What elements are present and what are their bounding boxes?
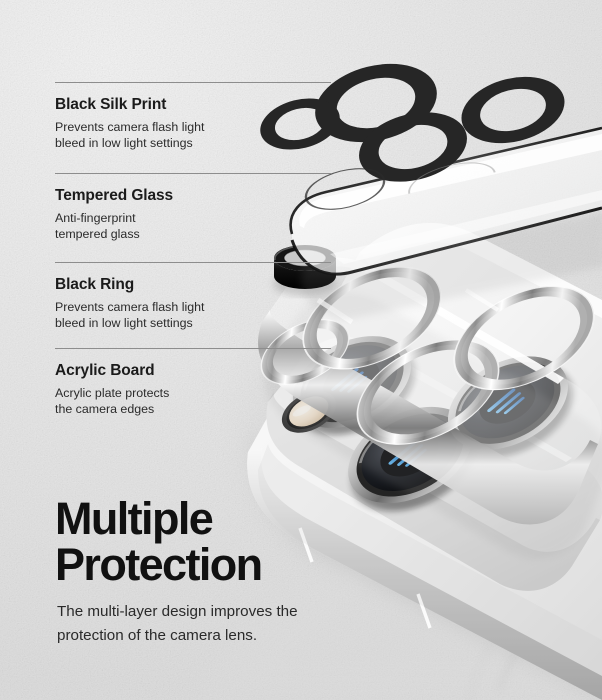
spec-desc-line-1: Anti-fingerprint bbox=[55, 211, 136, 225]
spec-divider bbox=[55, 348, 331, 349]
spec-description: Prevents camera flash light bleed in low… bbox=[55, 120, 355, 151]
spec-desc-line-2: bleed in low light settings bbox=[55, 136, 193, 150]
subheadline-line-2: protection of the camera lens. bbox=[57, 627, 257, 644]
spec-description: Prevents camera flash light bleed in low… bbox=[55, 300, 355, 331]
spec-acrylic-board: Acrylic Board Acrylic plate protects the… bbox=[55, 348, 355, 417]
spec-desc-line-2: bleed in low light settings bbox=[55, 316, 193, 330]
spec-desc-line-1: Acrylic plate protects bbox=[55, 386, 169, 400]
spec-divider bbox=[55, 173, 331, 174]
spec-divider bbox=[55, 82, 331, 83]
infographic-canvas: Black Silk Print Prevents camera flash l… bbox=[0, 0, 602, 700]
spec-title: Tempered Glass bbox=[55, 187, 355, 205]
spec-title: Acrylic Board bbox=[55, 362, 355, 380]
spec-title: Black Ring bbox=[55, 276, 355, 294]
spec-desc-line-1: Prevents camera flash light bbox=[55, 300, 204, 314]
spec-desc-line-2: the camera edges bbox=[55, 402, 154, 416]
spec-black-silk-print: Black Silk Print Prevents camera flash l… bbox=[55, 82, 355, 151]
subheadline-line-1: The multi-layer design improves the bbox=[57, 603, 298, 620]
spec-divider bbox=[55, 262, 331, 263]
subheadline: The multi-layer design improves the prot… bbox=[57, 600, 397, 648]
spec-title: Black Silk Print bbox=[55, 96, 355, 114]
spec-desc-line-2: tempered glass bbox=[55, 227, 140, 241]
camera-lens-3 bbox=[432, 337, 587, 476]
camera-lens-2 bbox=[332, 387, 492, 530]
spec-black-ring: Black Ring Prevents camera flash light b… bbox=[55, 262, 355, 331]
headline-line-1: Multiple bbox=[55, 496, 262, 542]
headline-line-2: Protection bbox=[55, 542, 262, 588]
spec-description: Anti-fingerprint tempered glass bbox=[55, 211, 355, 242]
spec-tempered-glass: Tempered Glass Anti-fingerprint tempered… bbox=[55, 173, 355, 242]
spec-description: Acrylic plate protects the camera edges bbox=[55, 386, 355, 417]
spec-desc-line-1: Prevents camera flash light bbox=[55, 120, 204, 134]
headline: Multiple Protection bbox=[55, 496, 262, 588]
